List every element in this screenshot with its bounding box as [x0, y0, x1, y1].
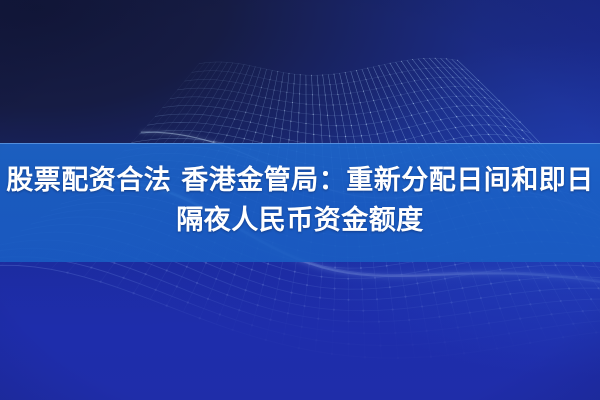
banner-image: 股票配资合法 香港金管局：重新分配日间和即日 隔夜人民币资金额度 [0, 0, 600, 400]
vignette-overlay [0, 0, 600, 400]
